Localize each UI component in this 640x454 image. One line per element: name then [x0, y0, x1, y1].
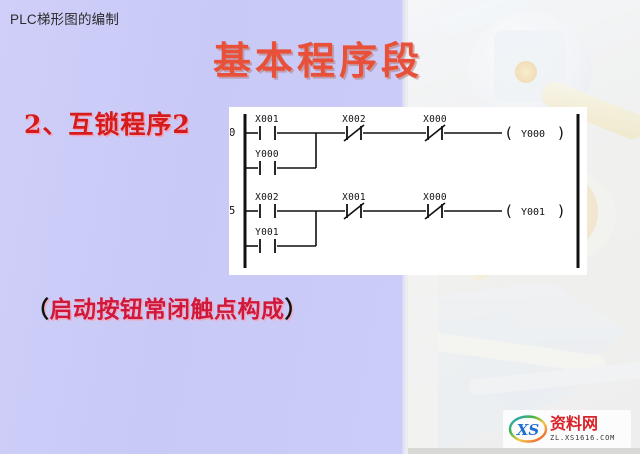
svg-text:): ) — [558, 124, 564, 142]
caption-open-paren: （ — [26, 296, 50, 323]
svg-text:): ) — [558, 202, 564, 220]
watermark-site-name: 资料网 — [550, 416, 627, 432]
watermark: XS 资料网 ZL.XS1616.COM — [503, 410, 631, 448]
contact-label: X000 — [423, 114, 447, 125]
contact-label: X001 — [342, 192, 366, 203]
contact-no: X001 — [255, 114, 279, 140]
contact-label: Y000 — [255, 149, 279, 160]
rung-number: 0 — [230, 126, 235, 139]
section-subtitle: 2、互锁程序2 — [24, 105, 191, 141]
caption-close-paren: ） — [285, 296, 309, 323]
output-coil: ( Y000 ) — [506, 124, 564, 142]
contact-nc: X000 — [423, 192, 447, 219]
svg-text:XS: XS — [516, 421, 540, 439]
contact-nc: X002 — [342, 114, 366, 141]
coil-label: Y001 — [521, 207, 545, 218]
caption-inner-text: 启动按钮常闭触点构成 — [50, 296, 285, 323]
contact-no: Y001 — [255, 227, 279, 253]
contact-no: Y000 — [255, 149, 279, 175]
watermark-text-block: 资料网 ZL.XS1616.COM — [550, 416, 627, 442]
ladder-diagram-svg: 0 X001 X002 X000 — [230, 108, 586, 274]
contact-label: X002 — [342, 114, 366, 125]
slide-title: 基本程序段 — [213, 30, 423, 85]
contact-label: X002 — [255, 192, 279, 203]
contact-label: X001 — [255, 114, 279, 125]
caption-text: （启动按钮常闭触点构成） — [26, 290, 308, 324]
contact-nc: X000 — [423, 114, 447, 141]
contact-nc: X001 — [342, 192, 366, 219]
watermark-logo-icon: XS — [507, 414, 549, 444]
rung-number: 5 — [230, 204, 235, 217]
output-coil: ( Y001 ) — [506, 202, 564, 220]
watermark-url: ZL.XS1616.COM — [550, 434, 627, 442]
svg-text:(: ( — [506, 124, 512, 142]
page-title: PLC梯形图的编制 — [10, 8, 119, 28]
contact-no: X002 — [255, 192, 279, 218]
svg-text:(: ( — [506, 202, 512, 220]
contact-label: Y001 — [255, 227, 279, 238]
slide-canvas: PLC梯形图的编制 基本程序段 2、互锁程序2 0 X001 X — [0, 0, 640, 454]
contact-label: X000 — [423, 192, 447, 203]
coil-label: Y000 — [521, 129, 545, 140]
bottom-strip — [408, 448, 640, 454]
ladder-diagram-panel: 0 X001 X002 X000 — [230, 108, 586, 274]
